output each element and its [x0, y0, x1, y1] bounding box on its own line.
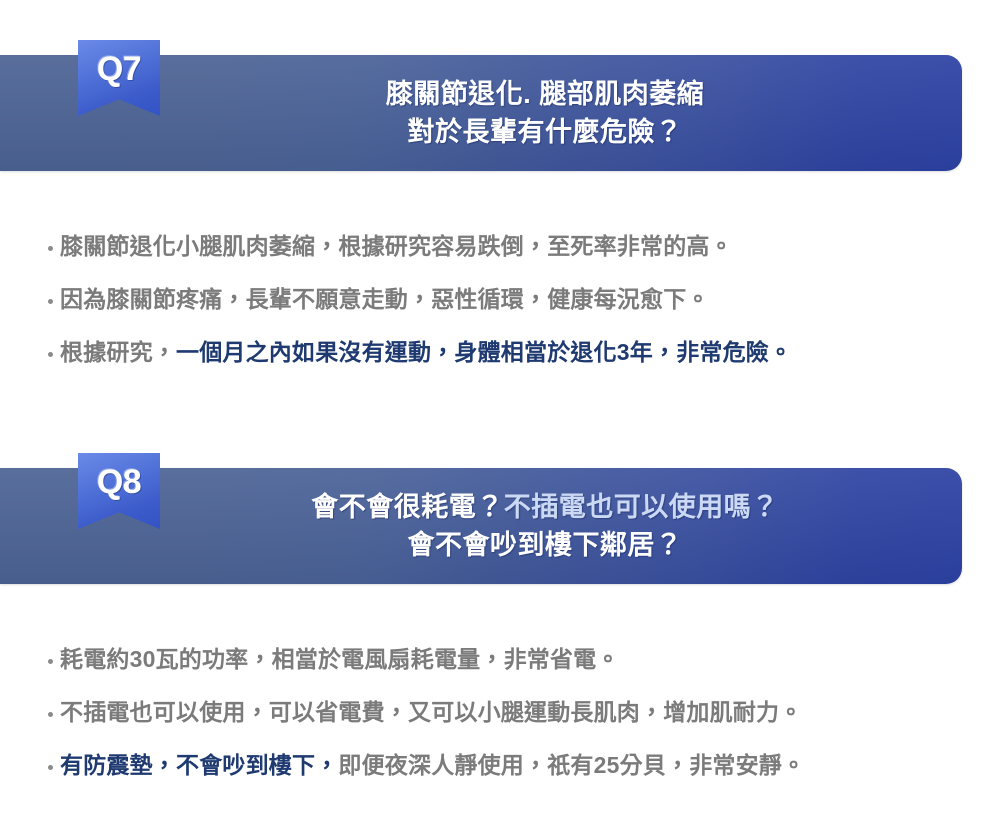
- list-item: 根據研究，一個月之內如果沒有運動，身體相當於退化3年，非常危險。: [48, 338, 968, 368]
- text-plain: 根據研究，: [60, 339, 176, 365]
- list-item-text: 有防震墊，不會吵到樓下，即便夜深人靜使用，祇有25分貝，非常安靜。: [60, 751, 805, 781]
- list-item: 因為膝關節疼痛，長輩不願意走動，惡性循環，健康每況愈下。: [48, 285, 968, 315]
- list-item-text: 膝關節退化小腿肌肉萎縮，根據研究容易跌倒，至死率非常的高。: [60, 232, 733, 262]
- text-plain: 膝關節退化小腿肌肉萎縮，根據研究容易跌倒，至死率非常的高。: [60, 233, 733, 259]
- question-badge-label: Q8: [97, 465, 141, 499]
- list-item: 不插電也可以使用，可以省電費，又可以小腿運動長肌肉，增加肌耐力。: [48, 698, 968, 728]
- text-highlight: 有防震墊，不會吵到樓下，: [60, 752, 338, 778]
- list-item-text: 不插電也可以使用，可以省電費，又可以小腿運動長肌肉，增加肌耐力。: [60, 698, 802, 728]
- list-item: 耗電約30瓦的功率，相當於電風扇耗電量，非常省電。: [48, 645, 968, 675]
- bullet-dot-icon: [48, 765, 53, 770]
- bullet-dot-icon: [48, 246, 53, 251]
- question-badge-label: Q7: [97, 52, 141, 86]
- answer-list-q8: 耗電約30瓦的功率，相當於電風扇耗電量，非常省電。 不插電也可以使用，可以省電費…: [48, 645, 968, 804]
- text-plain: 因為膝關節疼痛，長輩不願意走動，惡性循環，健康每況愈下。: [60, 286, 710, 312]
- bullet-dot-icon: [48, 659, 53, 664]
- list-item-text: 因為膝關節疼痛，長輩不願意走動，惡性循環，健康每況愈下。: [60, 285, 710, 315]
- list-item: 膝關節退化小腿肌肉萎縮，根據研究容易跌倒，至死率非常的高。: [48, 232, 968, 262]
- list-item-text: 耗電約30瓦的功率，相當於電風扇耗電量，非常省電。: [60, 645, 620, 675]
- answer-list-q7: 膝關節退化小腿肌肉萎縮，根據研究容易跌倒，至死率非常的高。 因為膝關節疼痛，長輩…: [48, 232, 968, 391]
- bullet-dot-icon: [48, 299, 53, 304]
- bullet-dot-icon: [48, 352, 53, 357]
- list-item-text: 根據研究，一個月之內如果沒有運動，身體相當於退化3年，非常危險。: [60, 338, 792, 368]
- list-item: 有防震墊，不會吵到樓下，即便夜深人靜使用，祇有25分貝，非常安靜。: [48, 751, 968, 781]
- text-highlight: 一個月之內如果沒有運動，身體相當於退化3年，非常危險。: [176, 339, 792, 365]
- bullet-dot-icon: [48, 712, 53, 717]
- text-plain-tail: 即便夜深人靜使用，祇有25分貝，非常安靜。: [338, 752, 805, 778]
- text-plain: 不插電也可以使用，可以省電費，又可以小腿運動長肌肉，增加肌耐力。: [60, 699, 802, 725]
- faq-page: Q7 膝關節退化. 腿部肌肉萎縮 對於長輩有什麼危險？ 膝關節退化小腿肌肉萎縮，…: [0, 0, 1000, 820]
- text-plain: 耗電約30瓦的功率，相當於電風扇耗電量，非常省電。: [60, 646, 620, 672]
